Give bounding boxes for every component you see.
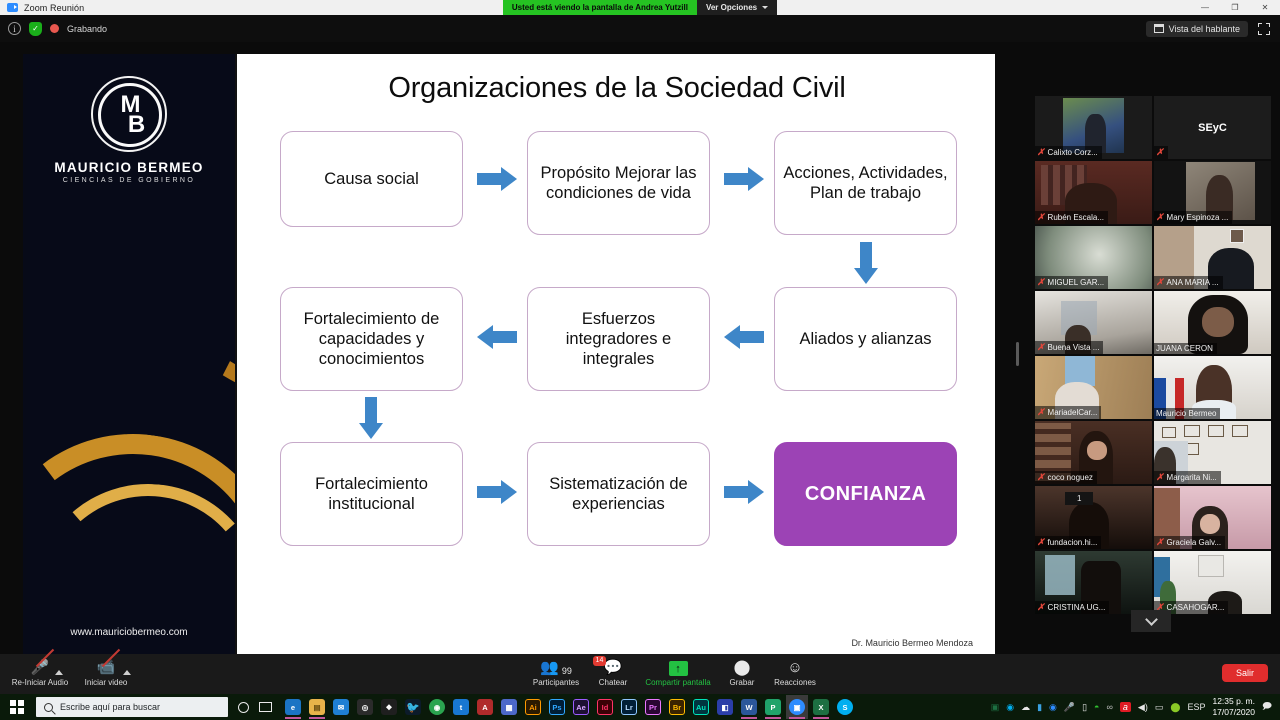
- clock-time: 12:35 p. m.: [1212, 696, 1255, 707]
- muted-icon: ✗: [1037, 342, 1045, 353]
- excel-icon[interactable]: X: [810, 695, 832, 719]
- shared-content[interactable]: M B MAURICIO BERMEO CIENCIAS DE GOBIERNO…: [23, 54, 995, 658]
- participant-initials: SEyC: [1154, 96, 1271, 159]
- teams-icon[interactable]: ▦: [498, 695, 520, 719]
- participant-name: MariadelCar...: [1048, 408, 1098, 417]
- arrow-right-4: [724, 480, 764, 504]
- camera-muted-icon: 📹: [97, 658, 116, 676]
- participant-name: Mauricio Bermeo: [1156, 409, 1216, 418]
- participant-thumbnail[interactable]: 1 ✗ fundacion.hi...: [1035, 486, 1152, 549]
- edge-icon[interactable]: e: [282, 695, 304, 719]
- zoom-icon[interactable]: ▣: [786, 695, 808, 719]
- muted-icon: ✗: [1037, 147, 1045, 158]
- skype-tray-icon[interactable]: ◉: [1006, 702, 1014, 713]
- audition-icon[interactable]: Au: [690, 695, 712, 719]
- flow-box-proposito: Propósito Mejorar las condiciones de vid…: [527, 131, 710, 235]
- participant-thumbnail[interactable]: ✗ MariadelCar...: [1035, 356, 1152, 419]
- view-options-label: Ver Opciones: [706, 3, 757, 12]
- participant-thumbnail-active-speaker[interactable]: Mauricio Bermeo: [1154, 356, 1271, 419]
- muted-icon: ✗: [1156, 212, 1164, 223]
- participant-name: CASAHOGAR...: [1167, 603, 1225, 612]
- shared-screen-stage: M B MAURICIO BERMEO CIENCIAS DE GOBIERNO…: [0, 42, 1032, 654]
- powerpoint-icon[interactable]: P: [762, 695, 784, 719]
- participant-thumbnail[interactable]: ✗ Rubén Escala...: [1035, 161, 1152, 224]
- participant-name-tag: ✗ Calixto Corz...: [1035, 146, 1102, 159]
- logo-ring-icon: M B: [91, 76, 167, 152]
- flow-box-confianza: CONFIANZA: [774, 442, 957, 546]
- windows-taskbar: Escribe aquí para buscar e ▤ ✉ ◎ ❖ 🐦 ◉ t…: [0, 694, 1280, 720]
- meeting-header: i ✓ Grabando Vista del hablante: [0, 15, 1280, 42]
- zoom-toolbar: 🎤 Re-Iniciar Audio 📹 Iniciar video 👥99 P…: [0, 654, 1280, 694]
- participant-name-tag: ✗ MIGUEL GAR...: [1035, 276, 1108, 289]
- muted-icon: ✗: [1037, 602, 1045, 613]
- muted-icon: ✗: [1156, 147, 1164, 158]
- arrow-down-1: [854, 242, 878, 284]
- participant-name: Graciela Galv...: [1167, 538, 1222, 547]
- participant-thumbnail[interactable]: ✗ coco noguez: [1035, 421, 1152, 484]
- participant-name: MIGUEL GAR...: [1048, 278, 1105, 287]
- lightroom-icon[interactable]: Lr: [618, 695, 640, 719]
- aftereffects-icon[interactable]: Ae: [570, 695, 592, 719]
- record-icon: ⬤: [734, 658, 751, 676]
- link-icon[interactable]: ∞: [1106, 702, 1112, 712]
- flow-box-fortalecimiento-capacidades: Fortalecimiento de capacidades y conocim…: [280, 287, 463, 391]
- flow-box-causa-social: Causa social: [280, 131, 463, 227]
- mail-icon[interactable]: ✉: [330, 695, 352, 719]
- flow-box-acciones: Acciones, Actividades, Plan de trabajo: [774, 131, 957, 235]
- slide-title: Organizaciones de la Sociedad Civil: [237, 72, 995, 105]
- chevron-up-icon: [123, 670, 131, 675]
- participant-name-tag: ✗ ANA MARIA ...: [1154, 276, 1223, 289]
- view-options-button[interactable]: Ver Opciones: [697, 0, 777, 15]
- arrow-left-1: [477, 325, 517, 349]
- brand-panel: M B MAURICIO BERMEO CIENCIAS DE GOBIERNO…: [23, 54, 235, 658]
- info-icon[interactable]: i: [8, 22, 21, 35]
- fullscreen-icon[interactable]: [1258, 23, 1270, 35]
- system-tray: ▣ ◉ ☁ ▮ ◉ 🎤 ▯ ◓ ∞ a ◀) ▭ ⬤ ESP 12:35 p. …: [991, 696, 1280, 717]
- file-explorer-icon[interactable]: ▤: [306, 695, 328, 719]
- illustrator-icon[interactable]: Ai: [522, 695, 544, 719]
- flipgrid-icon[interactable]: ◧: [714, 695, 736, 719]
- participant-name-tag: ✗ coco noguez: [1035, 471, 1097, 484]
- reactions-icon: ☺: [787, 658, 802, 676]
- participant-thumbnail[interactable]: ✗ ANA MARIA ...: [1154, 226, 1271, 289]
- participant-name: Margarita Ni...: [1167, 473, 1217, 482]
- speaker-view-button[interactable]: Vista del hablante: [1146, 21, 1248, 37]
- search-icon: [44, 703, 53, 712]
- camera-icon[interactable]: ◎: [354, 695, 376, 719]
- skype-icon[interactable]: S: [834, 695, 856, 719]
- clock[interactable]: 12:35 p. m. 17/07/2020: [1212, 696, 1255, 717]
- presentation-slide: Organizaciones de la Sociedad Civil Caus…: [235, 54, 995, 658]
- network-icon[interactable]: ▭: [1155, 702, 1164, 713]
- participant-name-tag: ✗ Rubén Escala...: [1035, 211, 1108, 224]
- muted-icon: ✗: [1037, 472, 1045, 483]
- participant-thumbnail[interactable]: ✗ Buena Vista ...: [1035, 291, 1152, 354]
- share-screen-label: Compartir pantalla: [645, 678, 710, 687]
- cortana-icon[interactable]: [232, 695, 254, 719]
- participant-thumbnail[interactable]: ✗ CRISTINA UG...: [1035, 551, 1152, 614]
- participant-name-tag: ✗ CRISTINA UG...: [1035, 601, 1109, 614]
- participant-thumbnail[interactable]: ✗ MIGUEL GAR...: [1035, 226, 1152, 289]
- chrome-icon[interactable]: ◉: [426, 695, 448, 719]
- volume-icon[interactable]: ◀): [1138, 702, 1148, 713]
- participant-name: Calixto Corz...: [1048, 148, 1098, 157]
- word-icon[interactable]: W: [738, 695, 760, 719]
- slide-credit: Dr. Mauricio Bermeo Mendoza: [851, 638, 973, 648]
- window-title: Zoom Reunión: [24, 3, 84, 13]
- brand-logo: M B MAURICIO BERMEO CIENCIAS DE GOBIERNO: [23, 76, 235, 184]
- participant-thumbnail[interactable]: ✗ Graciela Galv...: [1154, 486, 1271, 549]
- participant-thumbnail[interactable]: SEyC ✗: [1154, 96, 1271, 159]
- participant-name: coco noguez: [1048, 473, 1093, 482]
- chat-icon: 💬14: [604, 658, 623, 676]
- acrobat-icon[interactable]: A: [474, 695, 496, 719]
- participant-name-tag: ✗ fundacion.hi...: [1035, 536, 1101, 549]
- muted-icon: ✗: [1156, 277, 1164, 288]
- shield-icon[interactable]: ✓: [29, 22, 42, 36]
- avast-icon[interactable]: a: [1120, 702, 1131, 712]
- chevron-down-icon: [1145, 613, 1158, 626]
- participant-filmstrip: ✗ Calixto Corz... SEyC ✗ ✗ Rubén Escala.…: [1035, 96, 1271, 616]
- participant-name: Buena Vista ...: [1048, 343, 1100, 352]
- recording-label: Grabando: [67, 24, 107, 34]
- twitter-icon[interactable]: 🐦: [402, 695, 424, 719]
- participant-name-tag: ✗ MariadelCar...: [1035, 406, 1101, 419]
- arrow-right-3: [477, 480, 517, 504]
- audio-label: Re-Iniciar Audio: [12, 678, 68, 687]
- muted-icon: ✗: [1037, 277, 1045, 288]
- indesign-icon[interactable]: Id: [594, 695, 616, 719]
- participant-name: fundacion.hi...: [1048, 538, 1098, 547]
- onedrive-icon[interactable]: ☁: [1021, 702, 1030, 713]
- participant-name: ANA MARIA ...: [1167, 278, 1219, 287]
- participant-name-tag: Mauricio Bermeo: [1154, 408, 1220, 419]
- share-status-label: Usted está viendo la pantalla de Andrea …: [503, 0, 697, 15]
- participants-count: 99: [562, 666, 572, 676]
- chat-label: Chatear: [599, 678, 627, 687]
- brand-name: MAURICIO BERMEO: [23, 160, 235, 175]
- close-button[interactable]: ✕: [1250, 0, 1280, 15]
- video-label: Iniciar video: [85, 678, 128, 687]
- windows-start-icon[interactable]: [0, 694, 34, 720]
- arrow-right-1: [477, 167, 517, 191]
- tweetdeck-icon[interactable]: t: [450, 695, 472, 719]
- participant-thumbnail[interactable]: ✗ Mary Espinoza ...: [1154, 161, 1271, 224]
- clock-date: 17/07/2020: [1212, 707, 1255, 718]
- battery-tray-icon[interactable]: ▯: [1082, 702, 1087, 713]
- flow-box-esfuerzos: Esfuerzos integradores e integrales: [527, 287, 710, 391]
- screen-root: Zoom Reunión — ❐ ✕ Usted está viendo la …: [0, 0, 1280, 720]
- monogram-b: B: [128, 115, 144, 135]
- leave-meeting-button[interactable]: Salir: [1222, 664, 1268, 682]
- chevron-up-icon: [55, 670, 63, 675]
- excel-tray-icon[interactable]: ▣: [991, 702, 1000, 713]
- taskbar-apps: e ▤ ✉ ◎ ❖ 🐦 ◉ t A ▦ Ai Ps Ae Id Lr Pr Br…: [282, 695, 856, 719]
- muted-icon: ✗: [1037, 537, 1045, 548]
- chat-unread-badge: 14: [593, 656, 607, 666]
- participants-label: Participantes: [533, 678, 579, 687]
- microphone-muted-icon: 🎤: [31, 658, 50, 676]
- muted-icon: ✗: [1037, 407, 1045, 418]
- participant-thumbnail[interactable]: ✗ CASAHOGAR...: [1154, 551, 1271, 614]
- filmstrip-scroll-down-button[interactable]: [1131, 610, 1171, 632]
- mic-icon[interactable]: 🎤: [1064, 702, 1075, 713]
- photoshop-icon[interactable]: Ps: [546, 695, 568, 719]
- muted-icon: ✗: [1037, 212, 1045, 223]
- arrow-down-2: [359, 397, 383, 439]
- participant-thumbnail[interactable]: ✗ Margarita Ni...: [1154, 421, 1271, 484]
- zoom-tray-icon[interactable]: ◉: [1049, 702, 1057, 713]
- reactions-label: Reacciones: [774, 678, 816, 687]
- usb-icon[interactable]: ▮: [1037, 702, 1042, 713]
- search-input[interactable]: Escribe aquí para buscar: [36, 697, 228, 717]
- bridge-icon[interactable]: Br: [666, 695, 688, 719]
- participants-icon: 👥99: [540, 658, 572, 676]
- minimize-button[interactable]: —: [1190, 0, 1220, 15]
- chevron-down-icon: [762, 6, 768, 9]
- participant-name-tag: ✗ Graciela Galv...: [1154, 536, 1225, 549]
- brand-subtitle: CIENCIAS DE GOBIERNO: [23, 177, 235, 184]
- notifications-icon[interactable]: 🗩: [1262, 699, 1272, 715]
- arrow-left-2: [724, 325, 764, 349]
- reactions-button[interactable]: ☺ Reacciones: [759, 658, 831, 687]
- flow-box-sistematizacion: Sistematización de experiencias: [527, 442, 710, 546]
- flow-box-fortalecimiento-institucional: Fortalecimiento institucional: [280, 442, 463, 546]
- maximize-button[interactable]: ❐: [1220, 0, 1250, 15]
- muted-icon: ✗: [1156, 537, 1164, 548]
- update-icon[interactable]: ⬤: [1170, 702, 1180, 713]
- participant-name: Mary Espinoza ...: [1167, 213, 1229, 222]
- muted-icon: ✗: [1156, 472, 1164, 483]
- search-placeholder: Escribe aquí para buscar: [60, 702, 160, 712]
- participant-name-tag: ✗ Margarita Ni...: [1154, 471, 1221, 484]
- participant-name-tag: ✗ Buena Vista ...: [1035, 341, 1103, 354]
- share-screen-icon: ↑: [669, 658, 688, 676]
- window-controls: — ❐ ✕: [1190, 0, 1280, 15]
- zoom-icon: [7, 3, 18, 12]
- audio-options-button[interactable]: [50, 658, 68, 676]
- record-label: Grabar: [730, 678, 755, 687]
- participant-name-tag: ✗: [1154, 146, 1168, 159]
- speaker-view-label: Vista del hablante: [1169, 24, 1240, 34]
- participant-name: JUANA CERON: [1156, 344, 1213, 353]
- participant-order-badge: 1: [1065, 492, 1093, 505]
- task-view-icon[interactable]: [254, 695, 276, 719]
- participant-name-tag: ✗ Mary Espinoza ...: [1154, 211, 1232, 224]
- flow-box-aliados: Aliados y alianzas: [774, 287, 957, 391]
- participant-name: CRISTINA UG...: [1048, 603, 1106, 612]
- participant-name: Rubén Escala...: [1048, 213, 1104, 222]
- participant-name-tag: JUANA CERON: [1154, 343, 1217, 354]
- photos-icon[interactable]: ❖: [378, 695, 400, 719]
- language-indicator[interactable]: ESP: [1187, 702, 1205, 712]
- participant-thumbnail[interactable]: JUANA CERON: [1154, 291, 1271, 354]
- premiere-icon[interactable]: Pr: [642, 695, 664, 719]
- recording-indicator-icon: [50, 24, 59, 33]
- panel-drag-handle[interactable]: [1016, 342, 1019, 366]
- participant-thumbnail[interactable]: ✗ Calixto Corz...: [1035, 96, 1152, 159]
- shield-tray-icon[interactable]: ◓: [1094, 702, 1099, 712]
- arrow-right-2: [724, 167, 764, 191]
- grid-view-icon: [1154, 24, 1164, 33]
- video-options-button[interactable]: [118, 658, 136, 676]
- brand-url: www.mauriciobermeo.com: [23, 627, 235, 638]
